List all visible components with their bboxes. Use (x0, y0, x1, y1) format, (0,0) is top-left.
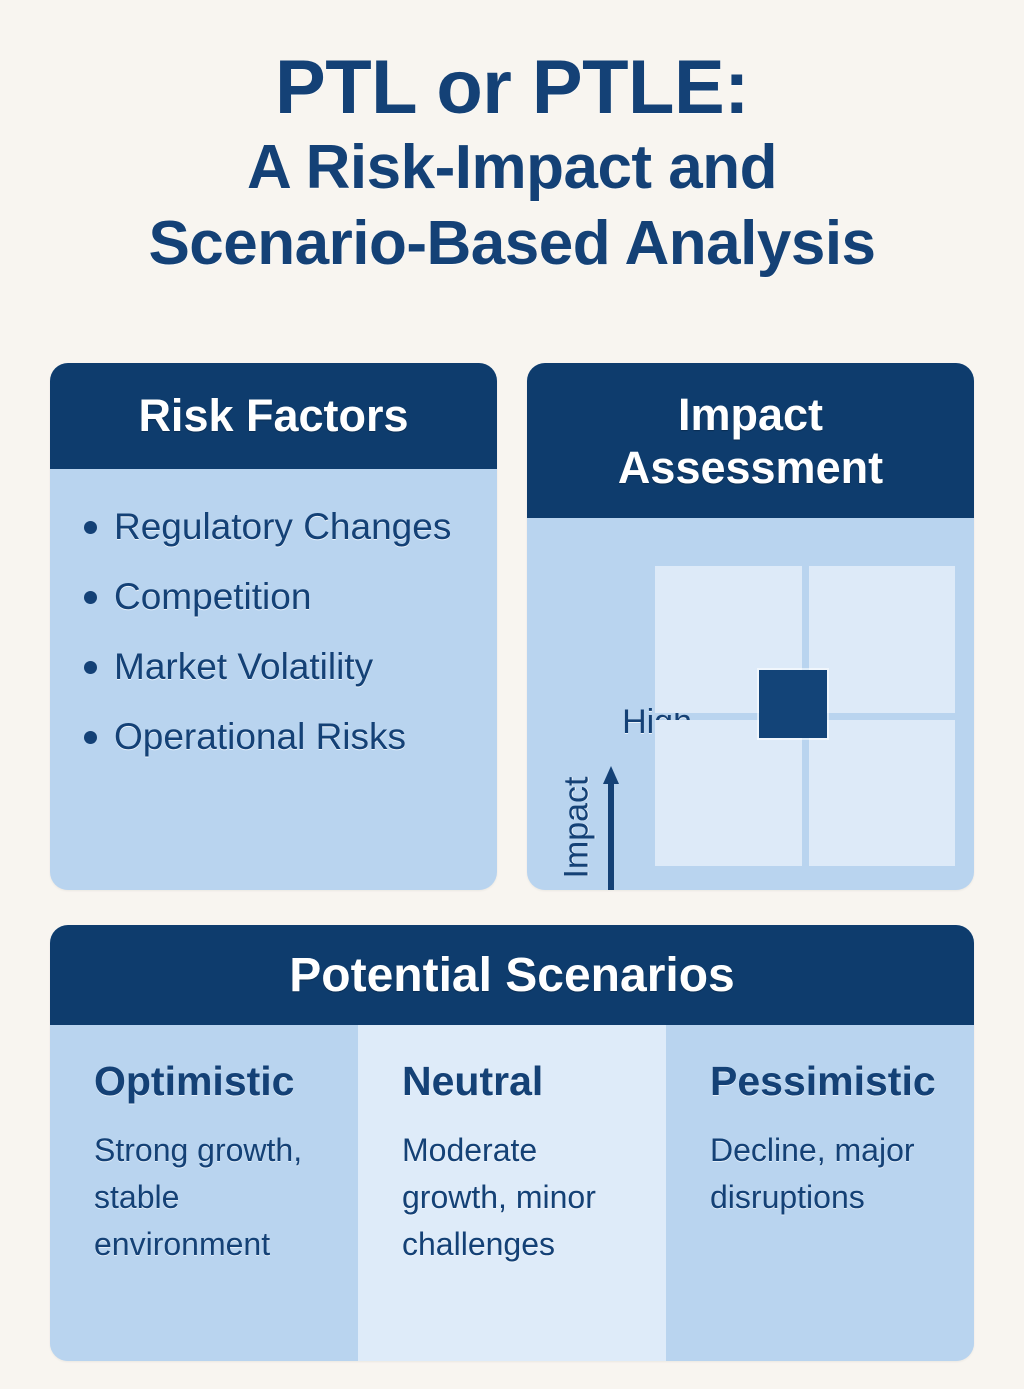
potential-scenarios-header: Potential Scenarios (50, 925, 974, 1025)
list-item: Operational Risks (68, 713, 479, 761)
list-item: Market Volatility (68, 643, 479, 691)
scenario-title: Optimistic (94, 1057, 334, 1105)
bullet-icon (84, 521, 97, 534)
up-arrow-icon (603, 766, 619, 890)
scenario-title: Neutral (402, 1057, 642, 1105)
page-title-line-1: PTL or PTLE: (0, 46, 1024, 130)
risk-factors-header: Risk Factors (50, 363, 497, 469)
risk-factor-label: Operational Risks (114, 713, 479, 761)
bullet-icon (84, 661, 97, 674)
page-title: PTL or PTLE: A Risk-Impact and Scenario-… (0, 46, 1024, 282)
impact-assessment-header-line-2: Assessment (618, 441, 883, 494)
scenario-description: Moderate growth, minor challenges (402, 1127, 642, 1268)
matrix-quadrant-top-right (809, 566, 956, 713)
potential-scenarios-body: Optimistic Strong growth, stable environ… (50, 1025, 974, 1361)
impact-assessment-body: High Low Impact likelihood High (527, 518, 974, 890)
risk-factors-body: Regulatory Changes Competition Market Vo… (50, 469, 497, 890)
risk-factors-list: Regulatory Changes Competition Market Vo… (68, 503, 479, 761)
matrix-quadrant-bottom-left (655, 720, 802, 867)
y-axis-title: Impact (558, 738, 597, 891)
scenario-column-optimistic: Optimistic Strong growth, stable environ… (50, 1025, 358, 1361)
impact-assessment-header: Impact Assessment (527, 363, 974, 518)
potential-scenarios-card: Potential Scenarios Optimistic Strong gr… (50, 925, 974, 1361)
risk-factor-label: Competition (114, 573, 479, 621)
risk-factors-card: Risk Factors Regulatory Changes Competit… (50, 363, 497, 890)
scenario-column-neutral: Neutral Moderate growth, minor challenge… (358, 1025, 666, 1361)
impact-assessment-header-line-1: Impact (678, 388, 823, 441)
list-item: Regulatory Changes (68, 503, 479, 551)
page-title-line-3: Scenario-Based Analysis (0, 206, 1024, 282)
risk-factor-label: Regulatory Changes (114, 503, 479, 551)
list-item: Competition (68, 573, 479, 621)
scenario-column-pessimistic: Pessimistic Decline, major disruptions (666, 1025, 974, 1361)
bullet-icon (84, 731, 97, 744)
matrix-quadrant-bottom-right (809, 720, 956, 867)
scenario-description: Strong growth, stable environment (94, 1127, 334, 1268)
page-title-line-2: A Risk-Impact and (0, 130, 1024, 206)
risk-position-marker (759, 670, 827, 738)
bullet-icon (84, 591, 97, 604)
risk-matrix-chart: High Low Impact likelihood High (527, 518, 974, 890)
impact-assessment-card: Impact Assessment High Low Impact likeli… (527, 363, 974, 890)
risk-factor-label: Market Volatility (114, 643, 479, 691)
scenario-description: Decline, major disruptions (710, 1127, 950, 1221)
scenario-title: Pessimistic (710, 1057, 950, 1105)
